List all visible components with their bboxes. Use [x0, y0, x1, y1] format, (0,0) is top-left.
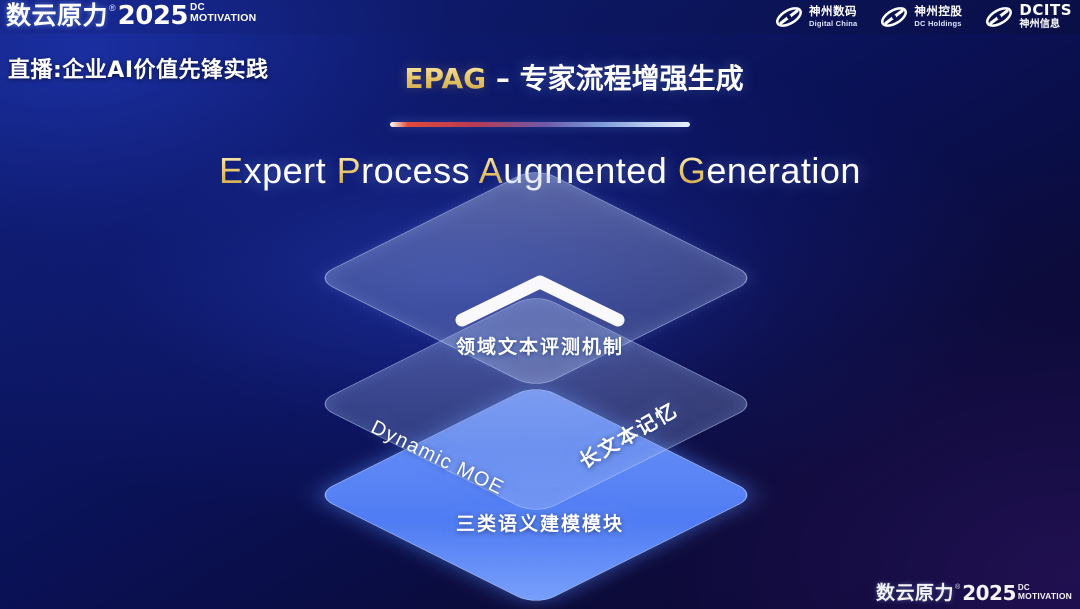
partner-name-cn: 神州控股: [914, 6, 962, 18]
diagram-layer-bottom: [314, 384, 758, 606]
page-title: EPAG – 专家流程增强生成: [0, 57, 1080, 97]
brand-dc-motivation: DC MOTIVATION: [190, 3, 256, 24]
partner-logo-dc-holdings: 神州控股 DC Holdings: [879, 4, 962, 30]
partner-logo-dcits: DCITS 神州信息: [984, 3, 1072, 30]
partner-name-cn: 神州数码: [809, 6, 857, 18]
swoosh-icon: [879, 4, 909, 30]
watermark-dc-line2: MOTIVATION: [1018, 592, 1072, 601]
partner-name-en: DCITS: [1019, 3, 1072, 18]
title-divider: [390, 122, 690, 127]
subtitle-rest-process: rocess: [361, 150, 479, 191]
watermark-registered-mark: ®: [955, 582, 960, 593]
partner-name-cn: 神州信息: [1019, 20, 1072, 30]
title-acronym: EPAG: [404, 62, 486, 95]
diagram-layer-bottom-label: 三类语义建模模块: [0, 509, 1080, 536]
registered-mark: ®: [109, 1, 116, 15]
subtitle-rest-expert: xpert: [244, 150, 337, 191]
watermark-logo: 数云原力 ® 2025 DC MOTIVATION: [876, 582, 1072, 605]
diagram-layer-middle-label-left: Dynamic MOE: [367, 416, 508, 500]
brand-name-cn: 数云原力: [6, 1, 108, 31]
diagram-layer-top: [314, 167, 758, 389]
subtitle-cap-g: G: [678, 150, 707, 191]
stack-glow: [300, 400, 780, 600]
subtitle-rest-generation: eneration: [706, 150, 861, 191]
title-chinese: 专家流程增强生成: [520, 62, 744, 95]
title-dash: –: [486, 62, 520, 95]
subtitle-expansion: Expert Process Augmented Generation: [0, 150, 1080, 192]
diagram-layer-middle: [314, 293, 758, 515]
partner-name-en: DC Holdings: [914, 20, 962, 28]
subtitle-cap-a: A: [479, 150, 504, 191]
partner-text: 神州控股 DC Holdings: [914, 6, 962, 27]
slide-canvas: 数云原力 ® 2025 DC MOTIVATION 直播:企业AI价值先锋实践 …: [0, 0, 1080, 609]
chevron-up-icon: [452, 272, 628, 328]
partner-logo-digital-china: 神州数码 Digital China: [774, 4, 857, 30]
diagram-layer-top-label: 领域文本评测机制: [0, 332, 1080, 359]
swoosh-icon: [774, 4, 804, 30]
watermark-year: 2025: [962, 582, 1016, 605]
subtitle-rest-augmented: ugmented: [503, 150, 678, 191]
brand-dc-line2: MOTIVATION: [190, 13, 256, 24]
watermark-dc-motivation: DC MOTIVATION: [1018, 584, 1072, 601]
subtitle-cap-p: P: [337, 150, 362, 191]
watermark-name-cn: 数云原力: [876, 582, 954, 605]
diagram-layer-middle-label-right: 长文本记忆: [573, 394, 683, 474]
brand-logo: 数云原力 ® 2025 DC MOTIVATION: [6, 1, 256, 31]
partner-text: 神州数码 Digital China: [809, 6, 857, 27]
partner-logo-group: 神州数码 Digital China 神州控股 DC Holdings: [774, 3, 1072, 30]
partner-text: DCITS 神州信息: [1019, 3, 1072, 30]
subtitle-cap-e: E: [219, 150, 244, 191]
brand-year: 2025: [118, 1, 188, 31]
partner-name-en: Digital China: [809, 20, 857, 28]
swoosh-icon: [984, 4, 1014, 30]
